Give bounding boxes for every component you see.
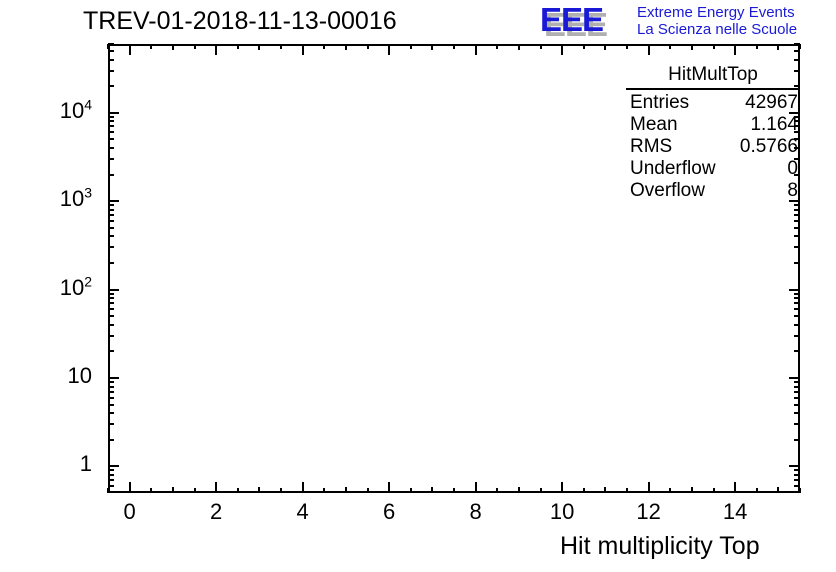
x-axis-tick-label: 6 bbox=[349, 501, 429, 523]
x-tick-minor bbox=[691, 487, 693, 493]
x-tick-minor bbox=[518, 487, 520, 493]
y-tick-minor bbox=[108, 235, 114, 237]
x-tick-major bbox=[734, 482, 736, 493]
y-tick-minor-right bbox=[794, 391, 800, 393]
x-tick-major-top bbox=[215, 44, 217, 55]
y-tick-minor bbox=[108, 302, 114, 304]
x-tick-minor-top bbox=[626, 44, 628, 49]
x-axis-tick-label: 14 bbox=[695, 501, 775, 523]
stats-row-key: Underflow bbox=[630, 158, 716, 180]
x-tick-minor-top bbox=[258, 44, 260, 50]
y-tick-minor bbox=[108, 227, 114, 229]
y-tick-major-right bbox=[789, 465, 800, 467]
y-tick-minor-right bbox=[794, 209, 800, 211]
y-tick-minor bbox=[108, 158, 114, 160]
y-tick-minor bbox=[108, 397, 114, 399]
x-tick-minor-top bbox=[172, 44, 174, 50]
x-tick-major-top bbox=[302, 44, 304, 55]
x-tick-minor-top bbox=[691, 44, 693, 50]
y-tick-minor bbox=[108, 138, 114, 140]
y-tick-minor bbox=[108, 70, 114, 72]
x-axis-tick-label: 4 bbox=[263, 501, 343, 523]
x-tick-minor-top bbox=[107, 44, 109, 49]
y-tick-minor-right bbox=[794, 335, 800, 337]
y-tick-major bbox=[108, 289, 119, 291]
x-tick-minor bbox=[583, 488, 585, 493]
y-tick-minor bbox=[108, 439, 114, 441]
stats-row: RMS0.5766 bbox=[626, 136, 800, 158]
y-tick-minor-right bbox=[794, 315, 800, 317]
x-tick-minor bbox=[713, 488, 715, 493]
x-tick-minor-top bbox=[323, 44, 325, 49]
y-tick-minor bbox=[108, 147, 114, 149]
x-axis-tick-label: 2 bbox=[176, 501, 256, 523]
stats-row: Entries42967 bbox=[626, 92, 800, 114]
y-tick-major-right bbox=[789, 289, 800, 291]
y-tick-minor-right bbox=[794, 469, 800, 471]
y-tick-minor-right bbox=[794, 204, 800, 206]
x-tick-major bbox=[561, 482, 563, 493]
y-axis-tick-label: 103 bbox=[0, 188, 92, 210]
y-tick-minor bbox=[108, 297, 114, 299]
y-tick-major-right bbox=[789, 377, 800, 379]
eee-logo-line2: La Scienza nelle Scuole bbox=[637, 21, 797, 38]
y-tick-minor bbox=[108, 381, 114, 383]
y-tick-minor-right bbox=[794, 59, 800, 61]
y-tick-minor-right bbox=[794, 381, 800, 383]
y-axis-tick-label: 102 bbox=[0, 277, 92, 299]
y-tick-minor bbox=[108, 262, 114, 264]
x-tick-major-top bbox=[561, 44, 563, 55]
y-tick-minor-right bbox=[794, 302, 800, 304]
x-tick-minor bbox=[626, 488, 628, 493]
x-tick-minor bbox=[194, 488, 196, 493]
x-tick-minor-top bbox=[540, 44, 542, 49]
x-tick-major bbox=[129, 482, 131, 493]
y-tick-minor bbox=[108, 485, 114, 487]
stats-title: HitMultTop bbox=[626, 64, 800, 86]
y-tick-minor bbox=[108, 174, 114, 176]
y-tick-minor bbox=[108, 131, 114, 133]
y-tick-minor-right bbox=[794, 350, 800, 352]
y-tick-minor bbox=[108, 246, 114, 248]
y-tick-minor-right bbox=[794, 439, 800, 441]
y-tick-minor-right bbox=[794, 397, 800, 399]
y-tick-major bbox=[108, 200, 119, 202]
x-tick-minor bbox=[604, 487, 606, 493]
y-tick-minor-right bbox=[794, 479, 800, 481]
y-tick-minor bbox=[108, 220, 114, 222]
y-tick-minor-right bbox=[794, 412, 800, 414]
y-tick-major bbox=[108, 377, 119, 379]
x-tick-minor bbox=[777, 487, 779, 493]
y-axis-tick-label: 1 bbox=[0, 453, 92, 475]
x-tick-major-top bbox=[475, 44, 477, 55]
stats-row-value: 42967 bbox=[745, 92, 798, 114]
y-tick-minor bbox=[108, 404, 114, 406]
x-tick-minor-top bbox=[367, 44, 369, 49]
y-tick-minor-right bbox=[794, 235, 800, 237]
y-tick-minor-right bbox=[794, 423, 800, 425]
y-tick-minor bbox=[108, 125, 114, 127]
y-tick-minor-right bbox=[794, 50, 800, 52]
y-tick-minor bbox=[108, 391, 114, 393]
eee-logo-line1: Extreme Energy Events bbox=[637, 4, 795, 21]
x-tick-minor-top bbox=[777, 44, 779, 50]
x-tick-minor bbox=[107, 488, 109, 493]
y-tick-minor bbox=[108, 315, 114, 317]
y-tick-minor bbox=[108, 474, 114, 476]
x-tick-minor bbox=[799, 488, 801, 493]
y-axis-tick-label: 10 bbox=[0, 365, 92, 387]
x-tick-minor bbox=[280, 488, 282, 493]
stats-row: Underflow0 bbox=[626, 158, 800, 180]
y-tick-minor bbox=[108, 85, 114, 87]
y-tick-minor-right bbox=[794, 324, 800, 326]
y-tick-minor bbox=[108, 204, 114, 206]
y-tick-minor bbox=[108, 120, 114, 122]
y-tick-minor-right bbox=[794, 262, 800, 264]
y-tick-minor-right bbox=[794, 308, 800, 310]
x-tick-minor-top bbox=[345, 44, 347, 50]
x-tick-minor-top bbox=[669, 44, 671, 49]
stats-row: Overflow8 bbox=[626, 180, 800, 202]
x-tick-minor bbox=[410, 488, 412, 493]
x-tick-minor bbox=[172, 487, 174, 493]
y-tick-minor bbox=[108, 412, 114, 414]
eee-logo: EEE EEE Extreme Energy Events La Scienza… bbox=[540, 2, 832, 40]
stats-row: Mean1.164 bbox=[626, 114, 800, 136]
stats-row-value: 8 bbox=[787, 180, 798, 202]
y-tick-minor-right bbox=[794, 246, 800, 248]
x-axis-tick-label: 10 bbox=[522, 501, 602, 523]
x-tick-minor bbox=[431, 487, 433, 493]
y-tick-minor-right bbox=[794, 220, 800, 222]
x-axis-tick-label: 12 bbox=[609, 501, 689, 523]
y-tick-major bbox=[108, 465, 119, 467]
stats-box: HitMultTop Entries42967Mean1.164RMS0.576… bbox=[626, 64, 800, 199]
x-tick-minor-top bbox=[756, 44, 758, 49]
x-tick-major bbox=[302, 482, 304, 493]
y-tick-minor-right bbox=[794, 404, 800, 406]
x-axis-tick-label: 0 bbox=[90, 501, 170, 523]
x-tick-minor bbox=[237, 488, 239, 493]
stats-row-key: Overflow bbox=[630, 180, 705, 202]
y-tick-minor-right bbox=[794, 297, 800, 299]
y-tick-minor bbox=[108, 50, 114, 52]
stats-row-key: Mean bbox=[630, 114, 678, 136]
stats-row-key: RMS bbox=[630, 136, 672, 158]
x-tick-minor-top bbox=[496, 44, 498, 49]
x-tick-major-top bbox=[129, 44, 131, 55]
x-axis-tick-label: 8 bbox=[436, 501, 516, 523]
x-tick-minor bbox=[669, 488, 671, 493]
x-tick-minor bbox=[345, 487, 347, 493]
x-tick-minor-top bbox=[150, 44, 152, 49]
stats-row-value: 0 bbox=[787, 158, 798, 180]
y-tick-minor bbox=[108, 350, 114, 352]
x-tick-major bbox=[388, 482, 390, 493]
x-tick-minor-top bbox=[799, 44, 801, 49]
x-tick-minor-top bbox=[237, 44, 239, 49]
stats-row-key: Entries bbox=[630, 92, 689, 114]
x-tick-minor bbox=[367, 488, 369, 493]
y-tick-minor bbox=[108, 335, 114, 337]
x-tick-minor bbox=[496, 488, 498, 493]
y-tick-minor bbox=[108, 469, 114, 471]
x-tick-minor bbox=[756, 488, 758, 493]
y-tick-minor-right bbox=[794, 227, 800, 229]
x-tick-minor-top bbox=[410, 44, 412, 49]
x-tick-major bbox=[215, 482, 217, 493]
x-tick-major-top bbox=[648, 44, 650, 55]
y-tick-minor-right bbox=[794, 386, 800, 388]
x-tick-minor bbox=[453, 488, 455, 493]
x-tick-major bbox=[475, 482, 477, 493]
x-tick-major bbox=[648, 482, 650, 493]
page-title: TREV-01-2018-11-13-00016 bbox=[83, 7, 397, 36]
y-tick-minor bbox=[108, 116, 114, 118]
x-axis-title: Hit multiplicity Top bbox=[560, 532, 760, 561]
histogram-canvas: TREV-01-2018-11-13-00016 EEE EEE Extreme… bbox=[0, 0, 836, 572]
stats-row-value: 1.164 bbox=[750, 114, 798, 136]
y-tick-minor-right bbox=[794, 485, 800, 487]
x-tick-minor-top bbox=[453, 44, 455, 49]
x-tick-major-top bbox=[388, 44, 390, 55]
eee-logo-mark: EEE EEE bbox=[540, 3, 632, 37]
x-tick-minor bbox=[150, 488, 152, 493]
y-tick-minor bbox=[108, 293, 114, 295]
y-tick-minor bbox=[108, 386, 114, 388]
y-tick-minor bbox=[108, 479, 114, 481]
x-tick-minor-top bbox=[194, 44, 196, 49]
y-tick-minor bbox=[108, 308, 114, 310]
y-tick-minor-right bbox=[794, 474, 800, 476]
stats-row-value: 0.5766 bbox=[740, 136, 798, 158]
x-tick-minor bbox=[323, 488, 325, 493]
eee-logo-mark-main: EEE bbox=[540, 3, 603, 37]
y-tick-minor-right bbox=[794, 293, 800, 295]
x-tick-minor bbox=[258, 487, 260, 493]
stats-divider bbox=[626, 88, 800, 90]
y-tick-minor bbox=[108, 59, 114, 61]
x-tick-major-top bbox=[734, 44, 736, 55]
y-axis-tick-label: 104 bbox=[0, 100, 92, 122]
x-tick-minor-top bbox=[604, 44, 606, 50]
y-tick-minor bbox=[108, 324, 114, 326]
y-tick-minor bbox=[108, 214, 114, 216]
y-tick-major bbox=[108, 112, 119, 114]
x-tick-minor bbox=[540, 488, 542, 493]
x-tick-minor-top bbox=[431, 44, 433, 50]
x-tick-minor-top bbox=[518, 44, 520, 50]
y-tick-minor bbox=[108, 423, 114, 425]
y-tick-minor bbox=[108, 209, 114, 211]
x-tick-minor-top bbox=[713, 44, 715, 49]
y-tick-minor-right bbox=[794, 214, 800, 216]
x-tick-minor-top bbox=[280, 44, 282, 49]
x-tick-minor-top bbox=[583, 44, 585, 49]
